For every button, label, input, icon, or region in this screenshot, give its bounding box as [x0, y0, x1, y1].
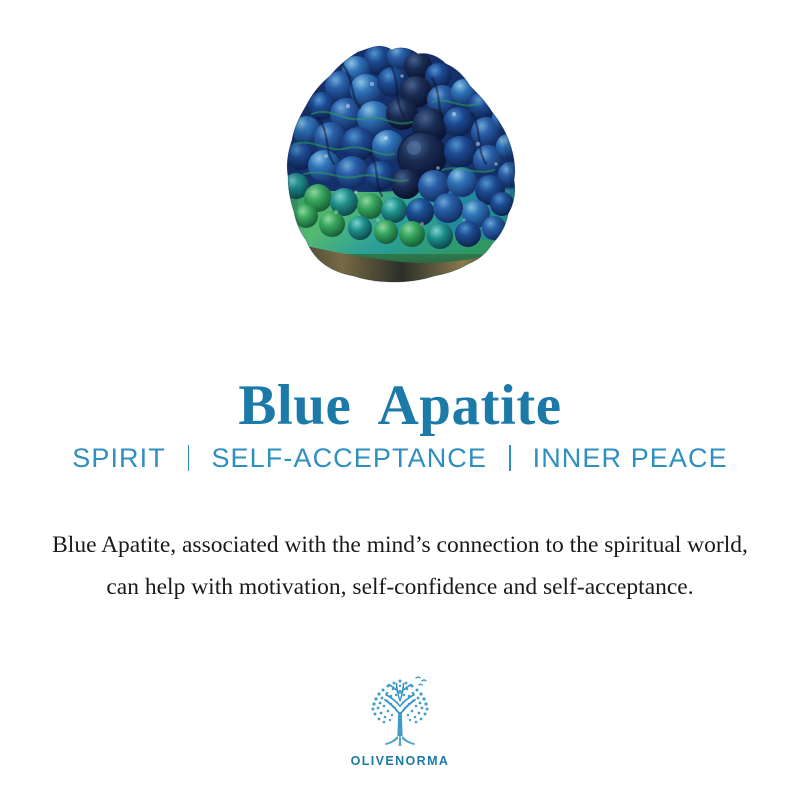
product-info-card: Blue Apatite SPIRIT SELF-ACCEPTANCE INNE… [0, 0, 800, 800]
keyword-spirit: SPIRIT [72, 441, 166, 475]
specimen-image-area [0, 0, 800, 300]
keyword-inner-peace: INNER PEACE [533, 441, 728, 475]
keyword-separator-1 [188, 445, 190, 471]
keyword-separator-2 [509, 445, 511, 471]
brand-wordmark: OLIVENORMA [351, 754, 450, 768]
keyword-self-acceptance: SELF-ACCEPTANCE [211, 441, 487, 475]
tree-icon [358, 672, 442, 752]
page-title: Blue Apatite [0, 374, 800, 438]
blue-apatite-specimen-image [282, 44, 522, 290]
keyword-list: SPIRIT SELF-ACCEPTANCE INNER PEACE [0, 441, 800, 475]
brand-logo: OLIVENORMA [340, 672, 460, 768]
description-text: Blue Apatite, associated with the mind’s… [35, 524, 765, 608]
